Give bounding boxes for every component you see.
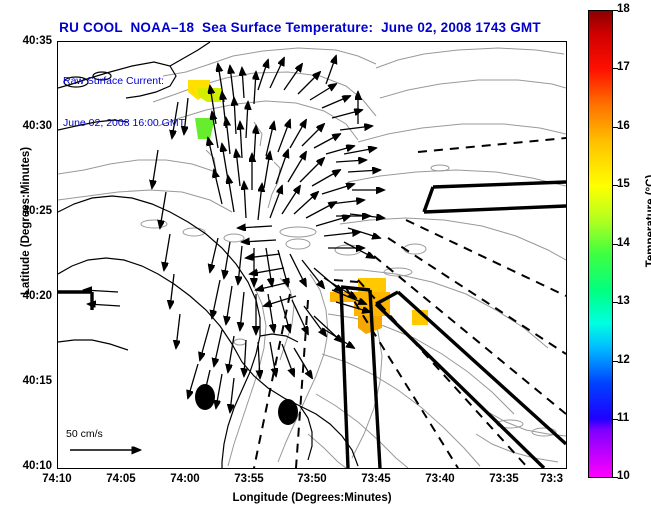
x-tick-label: 73:40	[415, 473, 465, 485]
scale-bar-label: 50 cm/s	[66, 428, 103, 440]
bathymetry-contours	[58, 48, 566, 468]
colorbar-tick-label: 14	[617, 237, 630, 249]
y-tick-label: 40:35	[4, 35, 52, 47]
y-tick-label: 40:10	[4, 460, 52, 472]
station-markers	[195, 384, 298, 425]
colorbar-tick-label: 17	[617, 61, 630, 73]
x-axis-title: Longitude (Degrees:Minutes)	[57, 492, 567, 504]
colorbar-tick-label: 16	[617, 120, 630, 132]
colorbar-title: Temperature (°C)	[645, 136, 651, 306]
map-canvas	[58, 42, 566, 468]
x-tick-label: 73:50	[287, 473, 337, 485]
x-tick-label: 73:35	[479, 473, 529, 485]
colorbar-tick-label: 15	[617, 178, 630, 190]
x-tick-label: 73:3	[540, 473, 586, 485]
sst-map-figure: RU COOL NOAA–18 Sea Surface Temperature:…	[0, 0, 651, 519]
map-plot-area[interactable]: Raw Surface Current: June 02, 2008 16:00…	[57, 41, 567, 469]
colorbar-tick-label: 10	[617, 470, 630, 482]
x-tick-label: 74:05	[96, 473, 146, 485]
y-axis-title: Latitude (Degrees:Minutes)	[20, 126, 32, 316]
colorbar-tick-label: 11	[617, 412, 629, 424]
y-tick-label: 40:15	[4, 375, 52, 387]
x-tick-label: 74:10	[32, 473, 82, 485]
x-tick-label: 74:00	[160, 473, 210, 485]
colorbar-tick-label: 18	[617, 3, 630, 15]
colorbar-tick-label: 12	[617, 354, 630, 366]
x-tick-label: 73:45	[351, 473, 401, 485]
colorbar-tick-label: 13	[617, 295, 630, 307]
temperature-colorbar[interactable]	[588, 10, 613, 478]
x-tick-label: 73:55	[224, 473, 274, 485]
figure-title: RU COOL NOAA–18 Sea Surface Temperature:…	[0, 20, 600, 35]
